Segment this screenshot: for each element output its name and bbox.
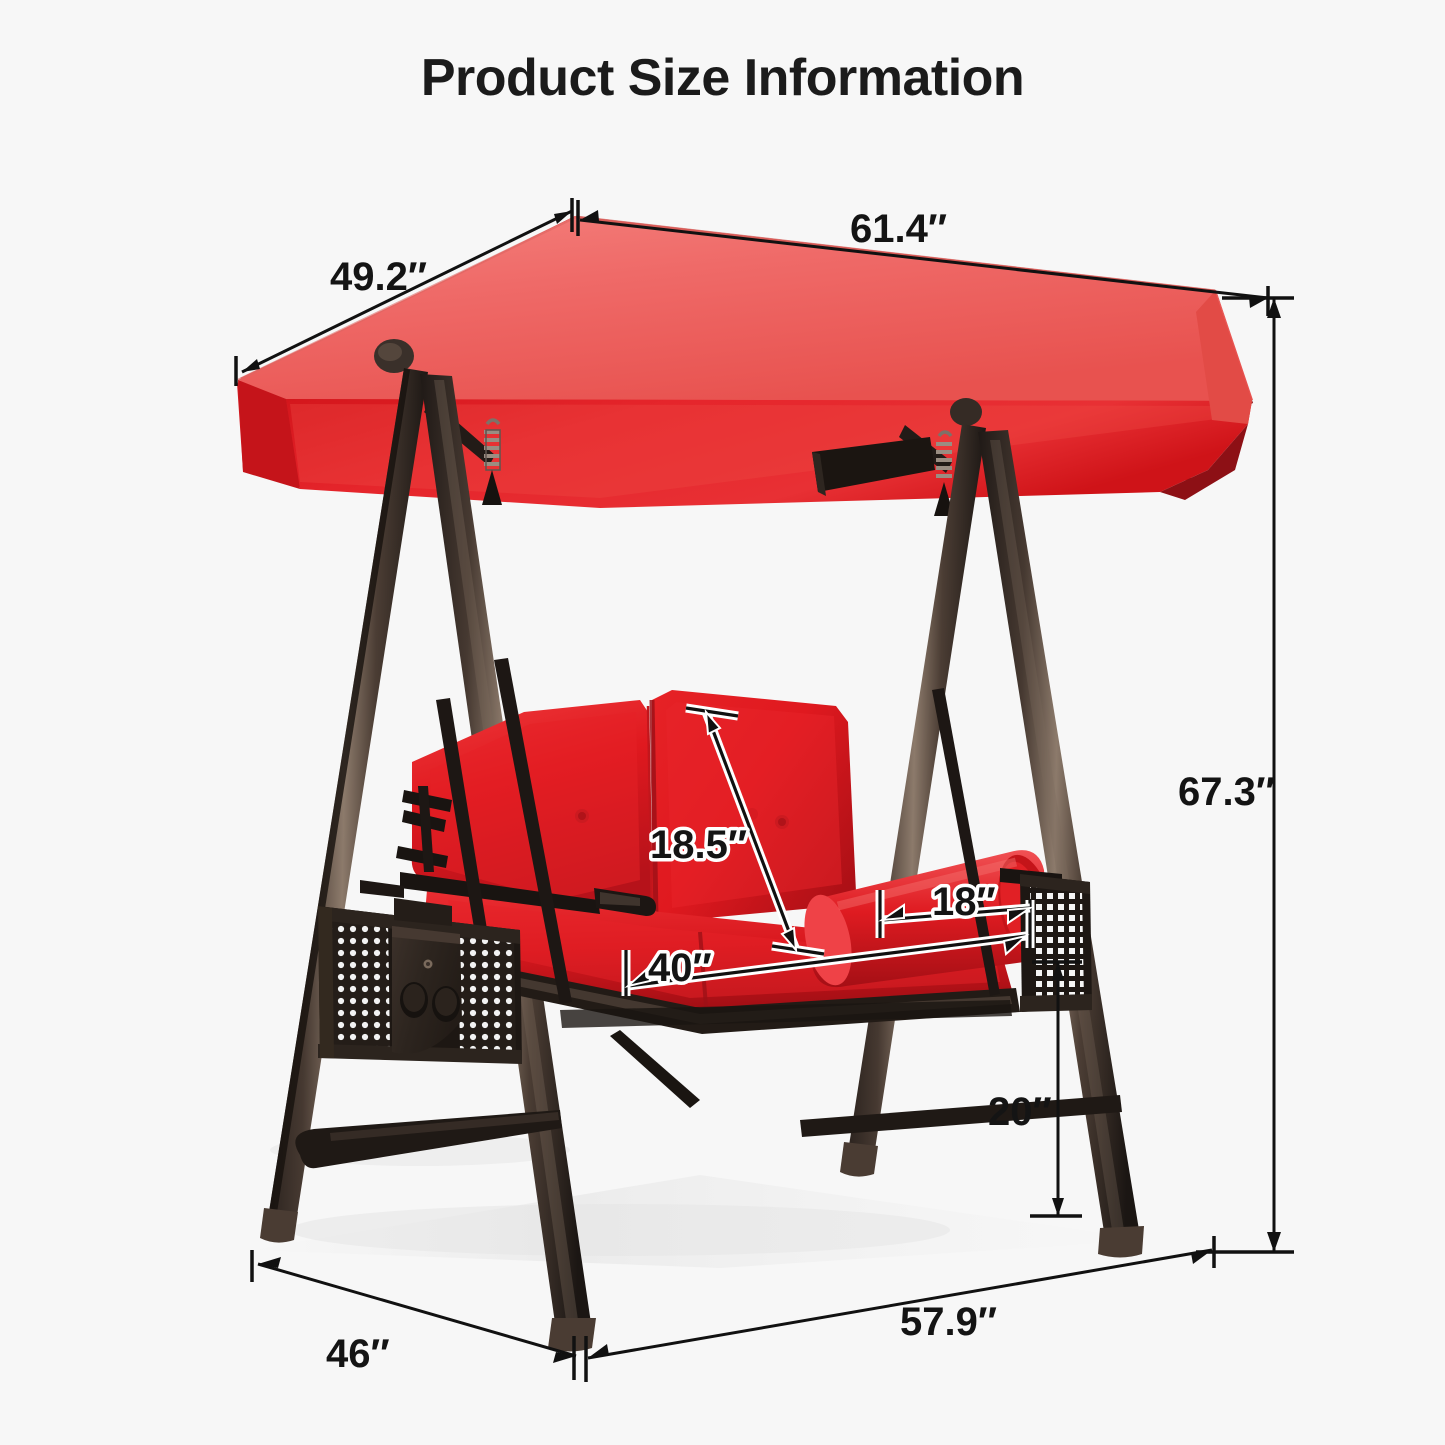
canopy-plane xyxy=(238,217,1252,401)
dimension-label-base-width: 57.9″ xyxy=(900,1300,997,1344)
foot-rear-left xyxy=(260,1208,298,1243)
dimension-label-overall-height: 67.3″ xyxy=(1178,770,1275,814)
dimension-label-backrest-height: 18.5″ xyxy=(650,823,747,867)
product-size-diagram: Product Size Information xyxy=(0,0,1445,1445)
canopy-pivot-knob-right xyxy=(950,398,982,426)
dimension-label-canopy-depth: 49.2″ xyxy=(330,255,427,299)
dimension-base-depth xyxy=(252,1250,576,1380)
mesh-side-panel-left-b xyxy=(458,934,516,1054)
mesh-side-panel-left xyxy=(330,916,390,1048)
dimension-label-seat-height: 20″ xyxy=(988,1090,1052,1134)
dimension-label-canopy-width: 61.4″ xyxy=(850,207,947,251)
foot-rear-right xyxy=(840,1142,878,1177)
foot-front-left xyxy=(548,1318,596,1352)
foot-front-right xyxy=(1098,1226,1144,1258)
dimension-label-seat-depth: 18″ xyxy=(932,880,996,924)
recline-latch-left xyxy=(396,786,452,872)
dimension-label-base-depth: 46″ xyxy=(326,1332,390,1376)
product-illustration: 49.2″ 61.4″ 67.3″ 18.5″ 40″ 18″ 20″ 46″ … xyxy=(0,0,1445,1445)
dimension-label-seat-width: 40″ xyxy=(648,946,712,990)
